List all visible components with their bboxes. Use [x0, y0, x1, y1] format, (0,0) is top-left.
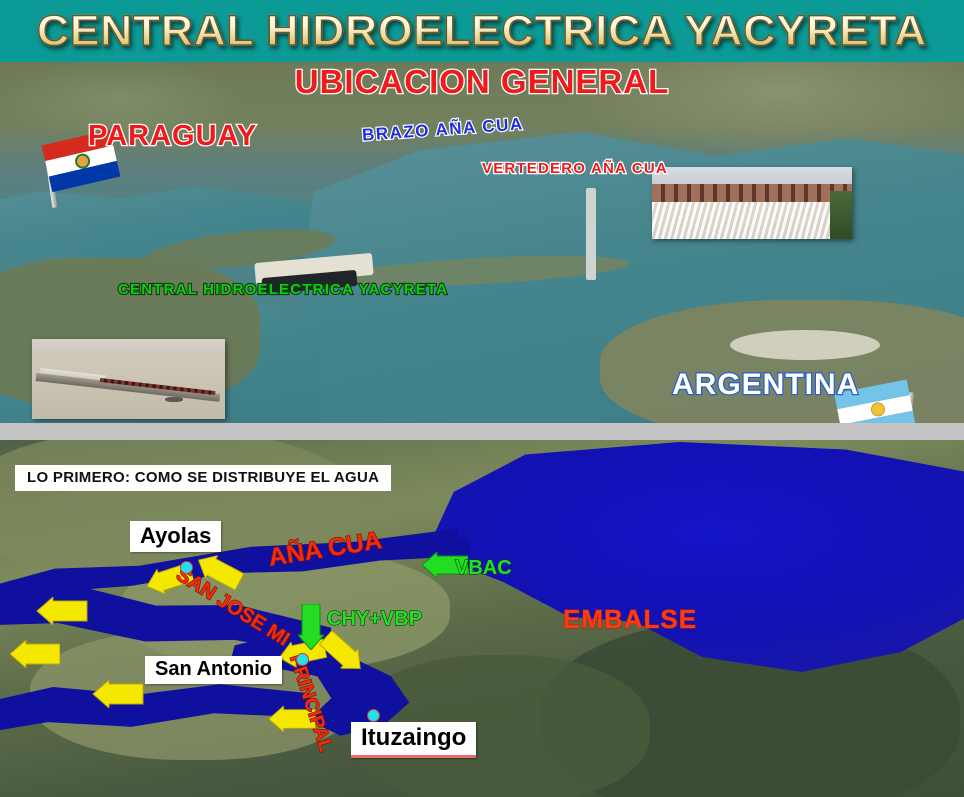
page-title: CENTRAL HIDROELECTRICA YACYRETA — [37, 7, 927, 56]
banner-lo-primero: LO PRIMERO: COMO SE DISTRIBUYE EL AGUA — [15, 465, 391, 491]
city-label-ituzaingo: Ituzaingo — [351, 722, 476, 758]
label-argentina: ARGENTINA — [672, 368, 859, 402]
flow-arrow-yellow-1 — [10, 640, 60, 668]
flow-arrow-green-chy-vbp — [298, 604, 324, 655]
city-dot-san-antonio — [296, 653, 309, 666]
panel-divider — [0, 423, 964, 440]
label-chy-vbp: CHY+VBP — [327, 608, 422, 631]
spillway-structure-overview — [586, 188, 596, 280]
flow-arrow-yellow-2 — [36, 597, 88, 625]
slide-root: CENTRAL HIDROELECTRICA YACYRETA — [0, 0, 964, 797]
spillway-water-foam — [652, 202, 852, 239]
title-banner: CENTRAL HIDROELECTRICA YACYRETA — [0, 0, 964, 62]
spillway-bank — [830, 191, 852, 239]
powerplant-boat — [165, 397, 182, 403]
flow-arrow-yellow-3 — [92, 680, 144, 708]
spillway-photo-inset — [652, 167, 852, 239]
city-label-ayolas: Ayolas — [130, 521, 221, 552]
spillway-gates — [652, 184, 852, 203]
label-embalse: EMBALSE — [563, 604, 697, 635]
spillway-sky — [652, 167, 852, 186]
powerplant-photo-inset — [32, 339, 225, 419]
city-dot-ayolas — [180, 561, 193, 574]
label-central-hidroelectrica: CENTRAL HIDROELECTRICA YACYRETA — [118, 281, 448, 298]
shoal-right — [730, 330, 880, 360]
label-vbac: VBAC — [455, 557, 512, 580]
label-paraguay: PARAGUAY — [88, 120, 257, 153]
powerplant-sky — [32, 339, 225, 357]
city-dot-ituzaingo — [367, 709, 380, 722]
label-vertedero-ana-cua: VERTEDERO AÑA CUA — [482, 160, 668, 177]
city-label-san-antonio: San Antonio — [145, 656, 282, 684]
heading-ubicacion-general: UBICACION GENERAL — [295, 63, 670, 101]
